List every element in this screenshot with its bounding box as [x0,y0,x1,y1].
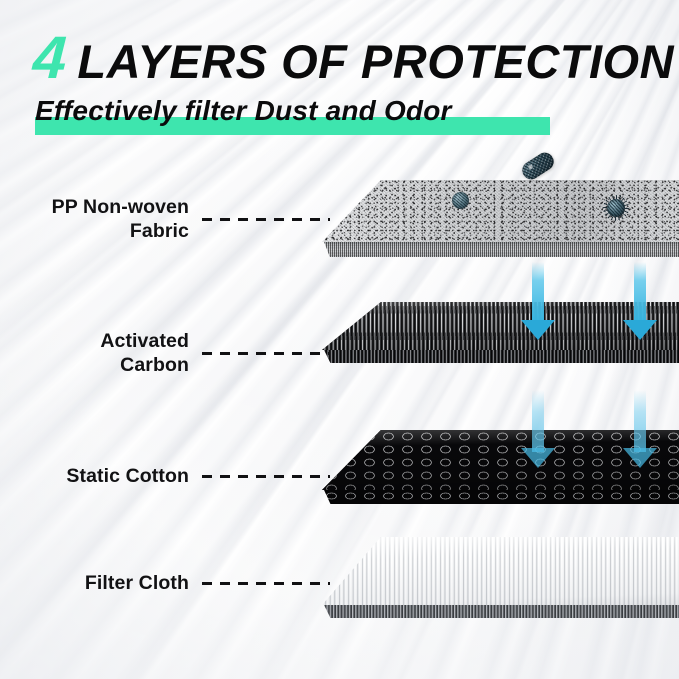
infographic-poster: 4 LAYERS OF PROTECTION Effectively filte… [0,0,679,679]
layer-label-text: Filter Cloth [85,572,189,596]
layer-label-line1: PP Non-woven [52,196,189,218]
layer-label-text: Static Cotton [66,465,189,489]
virus-core [607,199,625,217]
title-text: LAYERS OF PROTECTION [77,38,674,85]
layer-label-filter-cloth: Filter Cloth [0,572,330,596]
slab-front-edge [322,490,679,504]
slab-front-edge [322,605,679,618]
subtitle: Effectively filter Dust and Odor [35,96,452,125]
layer-label-pp-non-woven-fabric: PP Non-woven Fabric [0,196,330,244]
leader-line [202,582,330,585]
layer-count-number: 4 [31,28,67,88]
airflow-arrow-top-left [521,262,555,324]
leader-line [202,218,330,221]
arrow-head [521,448,555,468]
airflow-arrow-lower-left [521,390,555,452]
slab-gloss [322,537,679,605]
slab-top-surface [322,537,679,605]
layer-label-activated-carbon: Activated Carbon [0,330,330,378]
layer-label-text: Activated Carbon [100,330,189,378]
airflow-arrow-lower-right [623,390,657,452]
page-title: 4 LAYERS OF PROTECTION [33,28,674,88]
leader-line [202,475,330,478]
airflow-arrow-top-right [623,262,657,324]
slab-front-edge [322,350,679,363]
layer-label-line2: Carbon [100,354,189,378]
arrow-shaft [532,390,544,452]
arrow-shaft [634,390,646,452]
layer-label-line1: Filter Cloth [85,572,189,594]
layer-label-text: PP Non-woven Fabric [52,196,189,244]
layer-label-line1: Static Cotton [66,465,189,487]
layer-label-static-cotton: Static Cotton [0,465,330,489]
arrow-head [623,448,657,468]
arrow-shaft [532,262,544,324]
spiky-virus-icon [603,195,629,221]
layer-label-line1: Activated [100,330,189,352]
arrow-shaft [634,262,646,324]
subtitle-text: Effectively filter Dust and Odor [35,95,452,126]
layer-label-line2: Fabric [52,220,189,244]
arrow-head [623,320,657,340]
layer-slab-filter-cloth [322,537,679,605]
slab-front-edge [322,242,679,257]
arrow-head [521,320,555,340]
dust-particle-icon [452,192,469,209]
leader-line [202,352,330,355]
